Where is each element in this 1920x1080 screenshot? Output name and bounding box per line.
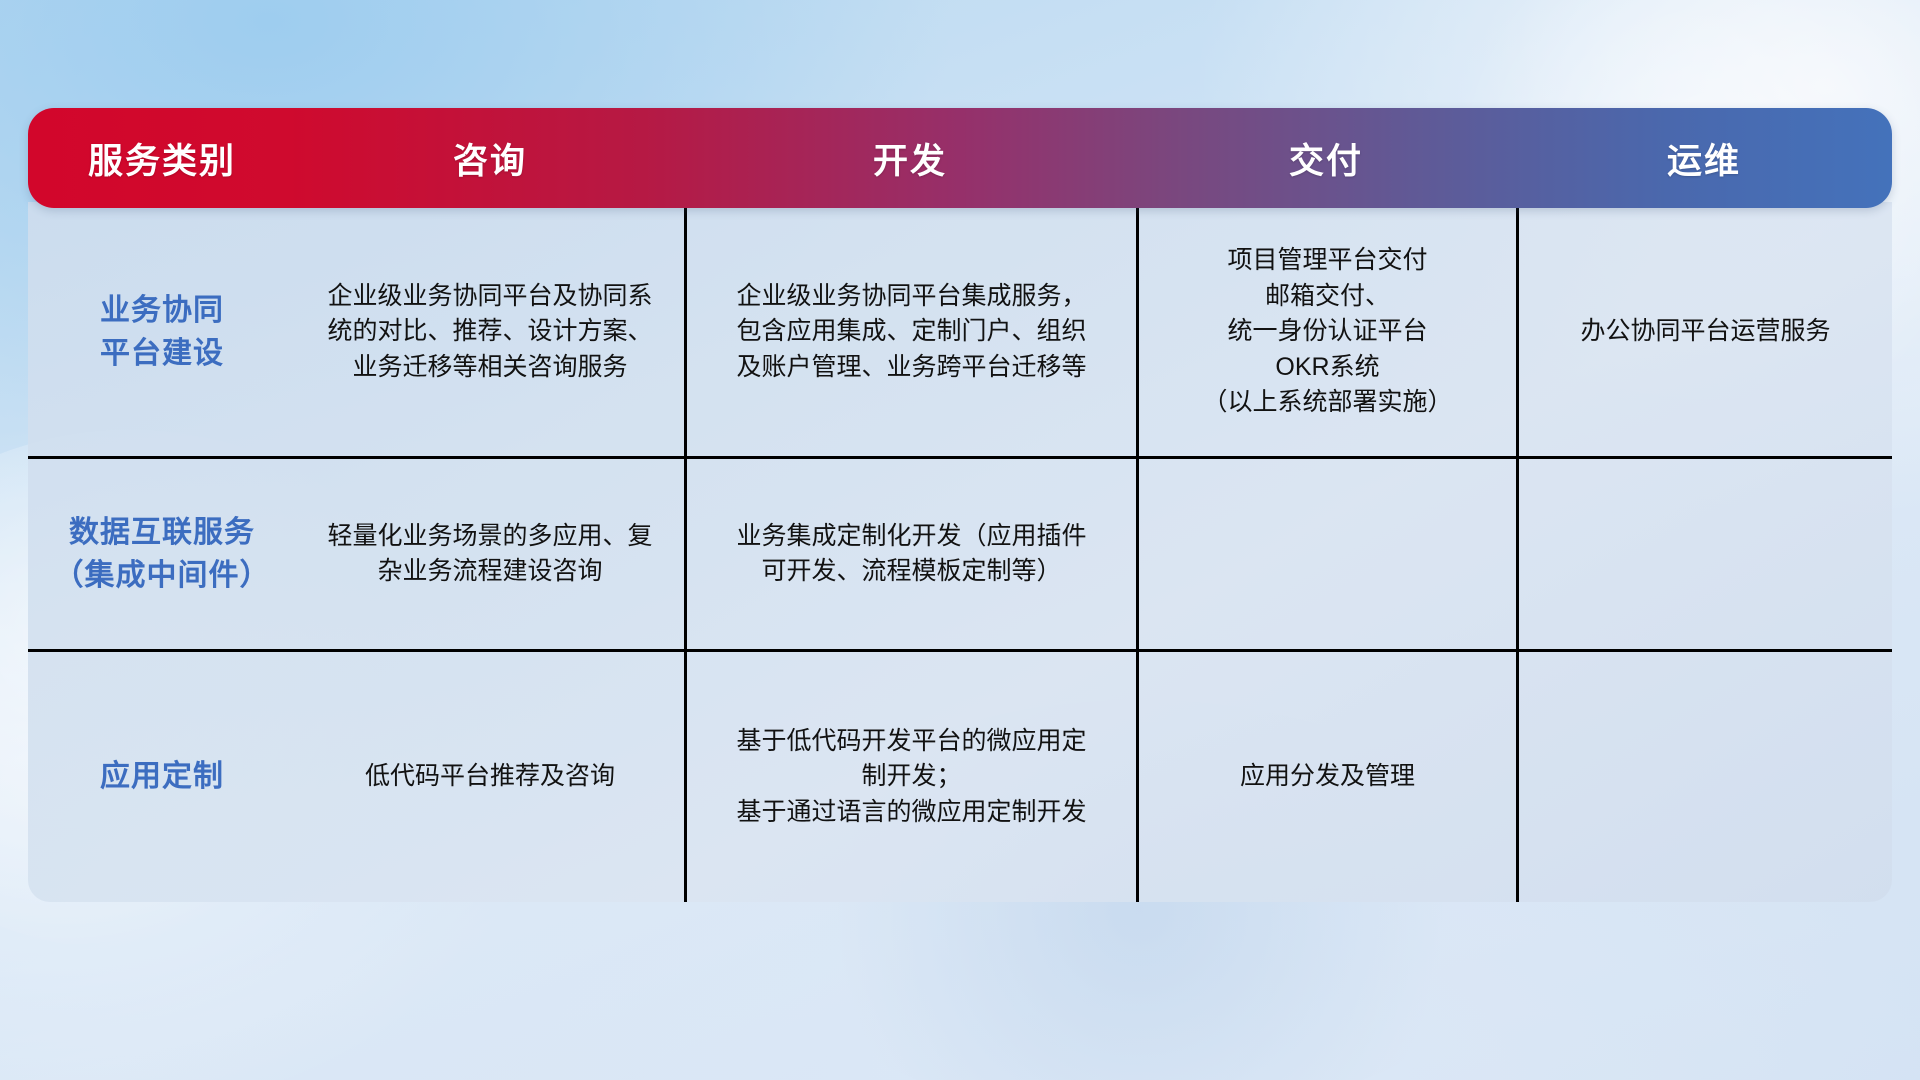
cell-consulting: 轻量化业务场景的多应用、复 杂业务流程建设咨询: [296, 459, 684, 649]
cell-development: 业务集成定制化开发（应用插件 可开发、流程模板定制等）: [684, 459, 1136, 649]
table-row: 数据互联服务 （集成中间件） 轻量化业务场景的多应用、复 杂业务流程建设咨询 业…: [28, 456, 1892, 649]
cell-consulting: 低代码平台推荐及咨询: [296, 652, 684, 902]
cell-development: 企业级业务协同平台集成服务， 包含应用集成、定制门户、组织 及账户管理、业务跨平…: [684, 208, 1136, 456]
table-row: 业务协同 平台建设 企业级业务协同平台及协同系 统的对比、推荐、设计方案、 业务…: [28, 208, 1892, 456]
service-matrix-table: 服务类别 咨询 开发 交付 运维 业务协同 平台建设 企业级业务协同平台及协同系…: [28, 108, 1892, 902]
row-category-label: 数据互联服务 （集成中间件）: [28, 459, 296, 649]
row-category-label: 业务协同 平台建设: [28, 208, 296, 456]
cell-delivery: [1136, 459, 1516, 649]
header-cell-service-category: 服务类别: [28, 108, 296, 208]
header-cell-development: 开发: [684, 108, 1136, 208]
cell-operations: [1516, 652, 1892, 902]
cell-operations: [1516, 459, 1892, 649]
cell-delivery: 项目管理平台交付 邮箱交付、 统一身份认证平台 OKR系统 （以上系统部署实施）: [1136, 208, 1516, 456]
table-body: 业务协同 平台建设 企业级业务协同平台及协同系 统的对比、推荐、设计方案、 业务…: [28, 202, 1892, 902]
table-row: 应用定制 低代码平台推荐及咨询 基于低代码开发平台的微应用定 制开发； 基于通过…: [28, 649, 1892, 902]
table-header-row: 服务类别 咨询 开发 交付 运维: [28, 108, 1892, 208]
cell-delivery: 应用分发及管理: [1136, 652, 1516, 902]
cell-operations: 办公协同平台运营服务: [1516, 208, 1892, 456]
cell-development: 基于低代码开发平台的微应用定 制开发； 基于通过语言的微应用定制开发: [684, 652, 1136, 902]
header-cell-consulting: 咨询: [296, 108, 684, 208]
header-cell-operations: 运维: [1516, 108, 1892, 208]
row-category-label: 应用定制: [28, 652, 296, 902]
cell-consulting: 企业级业务协同平台及协同系 统的对比、推荐、设计方案、 业务迁移等相关咨询服务: [296, 208, 684, 456]
header-cell-delivery: 交付: [1136, 108, 1516, 208]
